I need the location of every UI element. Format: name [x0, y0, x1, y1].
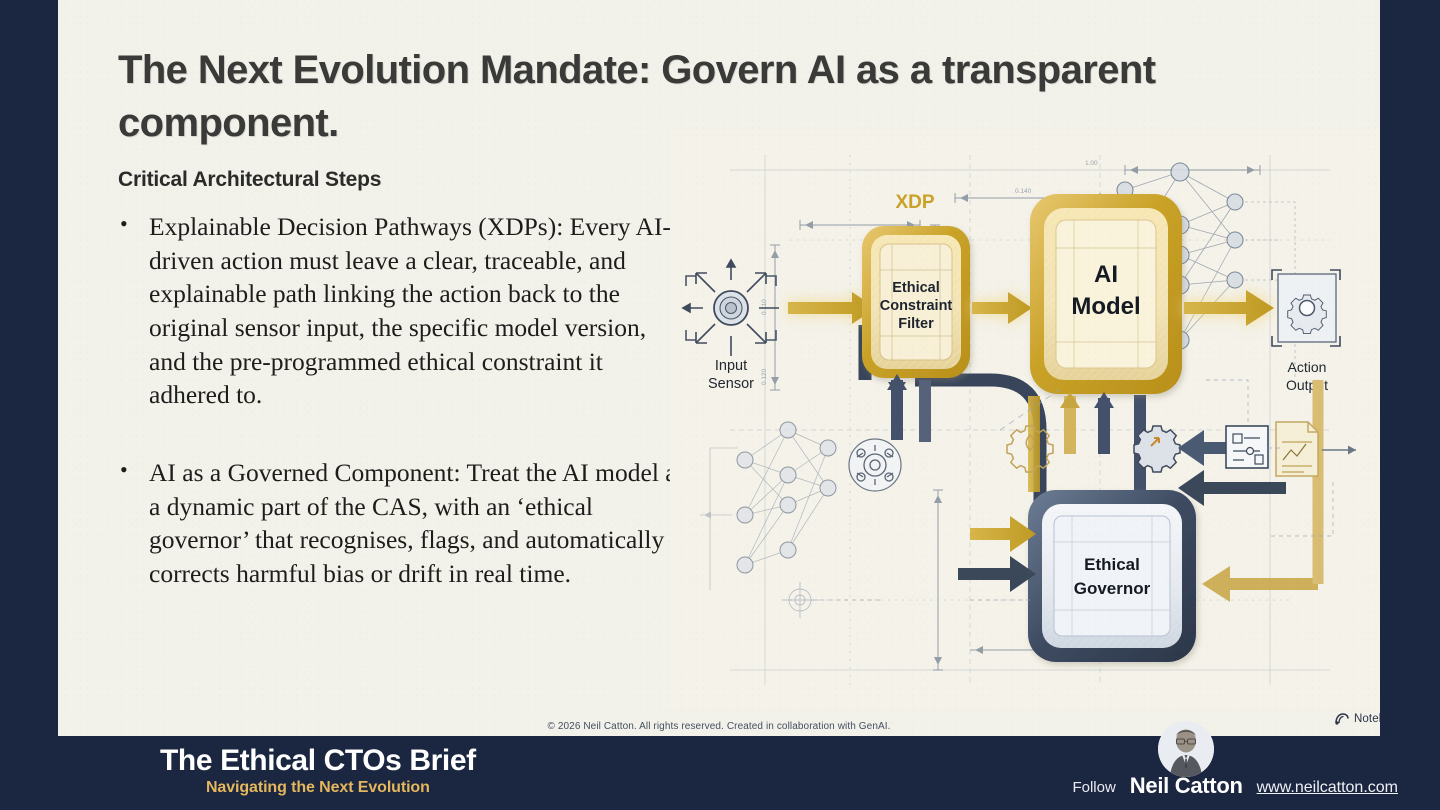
diagram-label-xdp: XDP	[895, 192, 934, 213]
svg-text:0.140: 0.140	[1015, 188, 1032, 195]
section-subheading: Critical Architectural Steps	[118, 168, 688, 192]
notebooklm-label: NotebookLM	[1354, 713, 1380, 725]
filter-label-line3: Filter	[898, 316, 934, 332]
svg-text:0.110: 0.110	[761, 299, 768, 315]
avatar	[1158, 721, 1214, 777]
person-block: Neil Catton	[1130, 773, 1243, 799]
filter-label-line1: Ethical	[892, 280, 940, 296]
gear-cluster-icon	[849, 439, 901, 491]
notebooklm-icon	[1335, 713, 1349, 725]
brand-block: The Ethical CTOs Brief Navigating the Ne…	[160, 744, 476, 797]
node-ethical-governor	[1028, 490, 1196, 662]
ai-model-label-line2: Model	[1071, 293, 1140, 320]
filter-label-line2: Constraint	[880, 298, 953, 314]
log-record-icon	[1226, 426, 1268, 468]
slide-content-card: The Next Evolution Mandate: Govern AI as…	[58, 0, 1380, 736]
slide-root: The Next Evolution Mandate: Govern AI as…	[0, 0, 1440, 810]
svg-text:0.120: 0.120	[761, 368, 768, 385]
bullet-list: Explainable Decision Pathways (XDPs): Ev…	[118, 210, 688, 591]
brand-title: The Ethical CTOs Brief	[160, 744, 476, 778]
left-text-column: Critical Architectural Steps Explainable…	[118, 168, 688, 635]
ai-model-label-line1: AI	[1094, 261, 1118, 288]
list-item: AI as a Governed Component: Treat the AI…	[118, 456, 688, 591]
node-input-sensor	[683, 260, 779, 356]
website-link[interactable]: www.neilcatton.com	[1257, 779, 1398, 799]
gear-icon	[1288, 295, 1327, 334]
architecture-diagram: 1.00 0.140 0.110 0.120 556	[670, 130, 1380, 710]
list-item: Explainable Decision Pathways (XDPs): Ev…	[118, 210, 688, 412]
input-sensor-label-line1: Input	[715, 358, 747, 374]
diagram-background	[670, 130, 1380, 710]
governor-label-line1: Ethical	[1084, 555, 1140, 574]
follow-label: Follow	[1072, 779, 1115, 799]
follow-group: Follow Neil Catton	[1072, 773, 1398, 799]
governor-label-line2: Governor	[1074, 579, 1151, 598]
notebooklm-badge: NotebookLM	[1335, 713, 1380, 725]
slide-footer: The Ethical CTOs Brief Navigating the Ne…	[0, 736, 1440, 810]
gear-icon-steel	[1134, 426, 1180, 472]
node-action-output	[1272, 270, 1340, 346]
avatar-photo	[1158, 721, 1214, 777]
brand-subtitle: Navigating the Next Evolution	[160, 779, 476, 797]
svg-text:1.00: 1.00	[1085, 160, 1098, 167]
action-output-label-line1: Action	[1288, 359, 1327, 375]
input-sensor-label-line2: Sensor	[708, 376, 754, 392]
chart-document-icon	[1276, 422, 1318, 476]
